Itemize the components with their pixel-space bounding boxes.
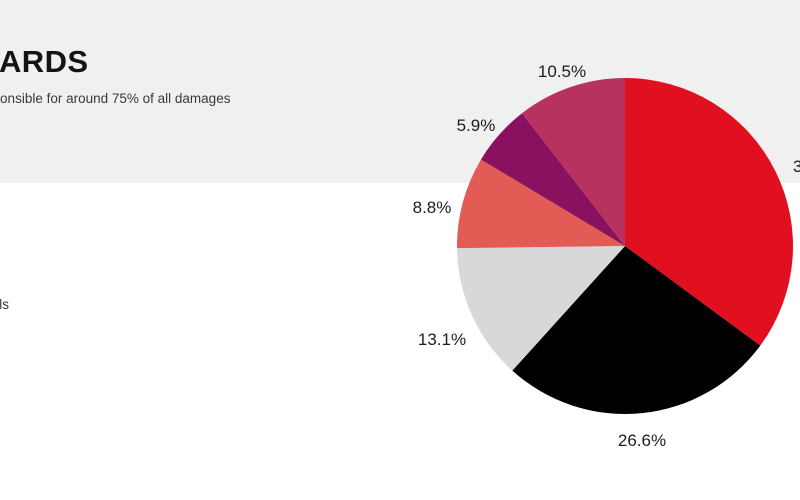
chart-legend: rikesppliancesmoking materialstemsauses: [0, 232, 202, 387]
header: E HAZARDS causes are responsible for aro…: [0, 46, 464, 107]
legend-item[interactable]: moking materials: [0, 294, 202, 316]
page-title: E HAZARDS: [0, 46, 464, 79]
legend-item[interactable]: tems: [0, 325, 202, 347]
infographic-canvas: E HAZARDS causes are responsible for aro…: [0, 0, 800, 500]
page-subtitle: causes are responsible for around 75% of…: [0, 91, 464, 107]
legend-item[interactable]: auses: [0, 356, 202, 378]
legend-item[interactable]: ppliances: [0, 263, 202, 285]
legend-item-label: moking materials: [0, 298, 9, 312]
legend-item[interactable]: rikes: [0, 232, 202, 254]
